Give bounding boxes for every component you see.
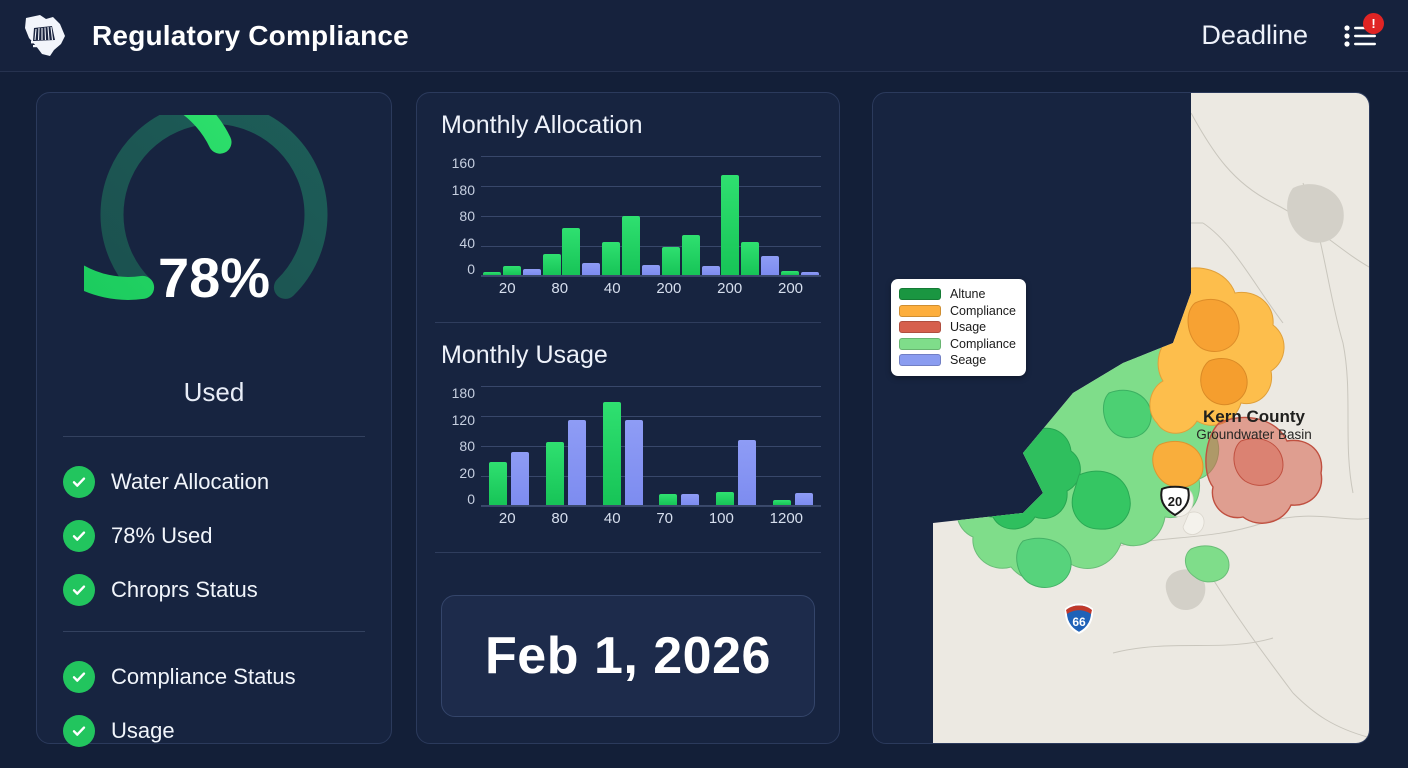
gauge-value: 78% <box>37 245 391 310</box>
list-menu-icon[interactable]: ! <box>1338 16 1382 56</box>
x-axis-usage: 208040701001200 <box>481 510 821 527</box>
divider-middle <box>63 631 365 632</box>
y-tick-label: 0 <box>467 492 475 506</box>
bar-group <box>489 452 529 505</box>
gridline <box>481 506 821 507</box>
legend-swatch <box>899 321 941 333</box>
check-circle-icon <box>63 520 95 552</box>
x-axis-allocation: 208040200200200 <box>481 280 821 297</box>
list-item-label: 78% Used <box>111 523 213 549</box>
us-20-shield-icon: 20 <box>1158 485 1192 522</box>
bar <box>625 420 643 505</box>
x-tick-label: 20 <box>499 280 516 297</box>
x-tick-label: 200 <box>717 280 742 297</box>
bar <box>642 265 660 275</box>
check-circle-icon <box>63 574 95 606</box>
x-tick-label: 80 <box>551 280 568 297</box>
bar <box>489 462 507 505</box>
bar <box>681 494 699 505</box>
interstate-66-shield-icon: 66 <box>1063 601 1095 640</box>
notification-badge: ! <box>1363 13 1384 34</box>
x-tick-label: 20 <box>499 510 516 527</box>
list-item[interactable]: Chroprs Status <box>63 563 365 617</box>
x-tick-label: 100 <box>709 510 734 527</box>
bar <box>622 216 640 275</box>
y-tick-label: 0 <box>467 262 475 276</box>
bar <box>483 272 501 275</box>
bar <box>721 175 739 275</box>
y-tick-label: 160 <box>452 156 475 170</box>
map-legend: AltuneComplianceUsageComplianceSeage <box>891 279 1026 376</box>
legend-item: Compliance <box>899 303 1016 320</box>
map-image[interactable]: 20 66 25 Kern County Groundwater Basin A… <box>873 93 1369 743</box>
check-circle-icon <box>63 466 95 498</box>
chart-divider-bottom <box>435 552 821 553</box>
page-title: Regulatory Compliance <box>92 20 409 52</box>
bar <box>795 493 813 505</box>
checklist-group-two: Compliance Status Usage <box>37 650 391 758</box>
map-place-label: Kern County Groundwater Basin <box>1169 407 1339 442</box>
bar <box>801 272 819 275</box>
chart-title-usage: Monthly Usage <box>417 323 839 370</box>
map-card[interactable]: 20 66 25 Kern County Groundwater Basin A… <box>872 92 1370 744</box>
x-tick-label: 200 <box>778 280 803 297</box>
legend-label: Compliance <box>950 338 1016 351</box>
y-tick-label: 80 <box>459 209 475 223</box>
bar <box>546 442 564 505</box>
bar <box>523 269 541 275</box>
bar <box>511 452 529 505</box>
app-header: Regulatory Compliance Deadline ! <box>0 0 1408 72</box>
list-item[interactable]: Usage <box>63 704 365 758</box>
legend-item: Usage <box>899 319 1016 336</box>
check-circle-icon <box>63 715 95 747</box>
bar-series-allocation <box>481 155 821 275</box>
bar <box>738 440 756 505</box>
map-place-sublabel: Groundwater Basin <box>1169 427 1339 443</box>
gauge-card: 78% Used Water Allocation 78% Used Chrop… <box>36 92 392 744</box>
list-item[interactable]: 78% Used <box>63 509 365 563</box>
plot-area-usage <box>481 386 821 506</box>
charts-card: Monthly Allocation 16018080400 208040200… <box>416 92 840 744</box>
bar <box>568 420 586 505</box>
legend-label: Seage <box>950 354 986 367</box>
bar <box>662 247 680 275</box>
chart-title-allocation: Monthly Allocation <box>417 93 839 140</box>
svg-text:20: 20 <box>1168 494 1182 509</box>
y-tick-label: 80 <box>459 439 475 453</box>
legend-label: Altune <box>950 288 985 301</box>
plot-area-allocation <box>481 156 821 276</box>
y-tick-label: 120 <box>452 413 475 427</box>
y-tick-label: 180 <box>452 183 475 197</box>
checklist-group-one: Water Allocation 78% Used Chroprs Status <box>37 455 391 617</box>
bar-group <box>773 493 813 505</box>
list-item-label: Usage <box>111 718 175 744</box>
list-item[interactable]: Water Allocation <box>63 455 365 509</box>
y-tick-label: 20 <box>459 466 475 480</box>
list-item[interactable]: Compliance Status <box>63 650 365 704</box>
x-tick-label: 200 <box>656 280 681 297</box>
legend-label: Compliance <box>950 305 1016 318</box>
y-tick-label: 40 <box>459 236 475 250</box>
bar <box>682 235 700 275</box>
divider-top <box>63 436 365 437</box>
list-item-label: Compliance Status <box>111 664 296 690</box>
bar <box>602 242 620 275</box>
bar <box>741 242 759 275</box>
legend-swatch <box>899 354 941 366</box>
water-usage-gauge: 78% <box>37 115 391 365</box>
bar-group <box>716 440 756 505</box>
bar <box>503 266 521 275</box>
bar-series-usage <box>481 385 821 505</box>
map-place-name: Kern County <box>1169 407 1339 427</box>
x-tick-label: 1200 <box>770 510 803 527</box>
dam-logo-icon <box>20 10 72 62</box>
y-axis-usage: 18012080200 <box>435 386 475 506</box>
bar <box>543 254 561 275</box>
x-tick-label: 40 <box>604 280 621 297</box>
x-tick-label: 40 <box>604 510 621 527</box>
monthly-usage-chart[interactable]: 18012080200 208040701001200 <box>435 386 821 526</box>
legend-swatch <box>899 288 941 300</box>
bar-group <box>659 494 699 505</box>
legend-item: Altune <box>899 286 1016 303</box>
list-item-label: Chroprs Status <box>111 577 258 603</box>
x-tick-label: 80 <box>551 510 568 527</box>
y-tick-label: 180 <box>452 386 475 400</box>
deadline-label[interactable]: Deadline <box>1201 20 1308 51</box>
legend-item: Compliance <box>899 336 1016 353</box>
gridline <box>481 276 821 277</box>
bar <box>562 228 580 275</box>
bar <box>781 271 799 275</box>
legend-swatch <box>899 305 941 317</box>
bar <box>716 492 734 505</box>
bar <box>582 263 600 275</box>
gauge-caption: Used <box>37 377 391 408</box>
legend-label: Usage <box>950 321 986 334</box>
legend-item: Seage <box>899 352 1016 369</box>
legend-swatch <box>899 338 941 350</box>
bar <box>659 494 677 505</box>
y-axis-allocation: 16018080400 <box>435 156 475 276</box>
deadline-date-text: Feb 1, 2026 <box>485 626 771 686</box>
x-tick-label: 70 <box>656 510 673 527</box>
deadline-date-card[interactable]: Feb 1, 2026 <box>441 595 815 717</box>
bar <box>773 500 791 505</box>
check-circle-icon <box>63 661 95 693</box>
bar <box>702 266 720 275</box>
bar-group <box>546 420 586 505</box>
bar-group <box>603 402 643 505</box>
bar <box>603 402 621 505</box>
svg-text:66: 66 <box>1072 615 1086 629</box>
monthly-allocation-chart[interactable]: 16018080400 208040200200200 <box>435 156 821 296</box>
bar <box>761 256 779 275</box>
list-item-label: Water Allocation <box>111 469 269 495</box>
